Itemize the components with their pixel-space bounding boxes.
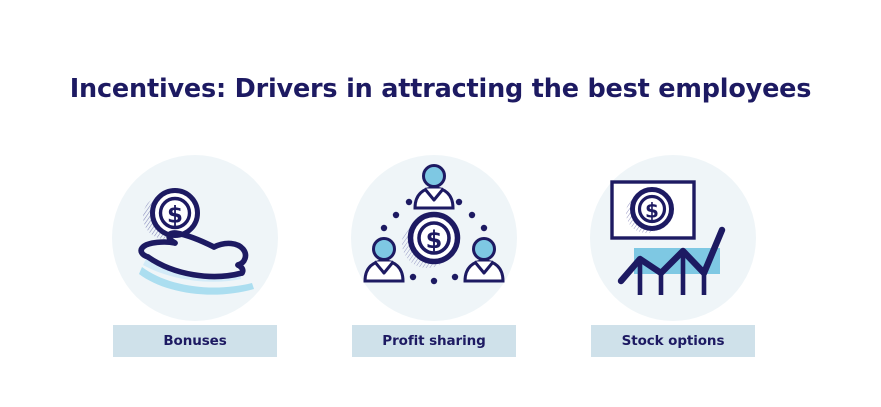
incentive-card-stock-options[interactable]: $ Stock options — [590, 155, 756, 321]
icon-circle-background: $ — [112, 155, 278, 321]
card-label-text: Bonuses — [163, 333, 226, 349]
slide-canvas: Incentives: Drivers in attracting the be… — [0, 0, 881, 407]
icon-circle-background: $ — [351, 155, 517, 321]
hand-holding-coin-icon: $ — [112, 155, 278, 321]
card-label-text: Profit sharing — [382, 333, 485, 349]
svg-text:$: $ — [167, 203, 183, 229]
incentive-card-profit-sharing[interactable]: $ Profit sharing — [351, 155, 517, 321]
banknote-growth-chart-icon: $ — [590, 155, 756, 321]
icon-circle-background: $ — [590, 155, 756, 321]
people-sharing-coin-icon: $ — [351, 155, 517, 321]
incentive-card-row: $ Bonuses — [0, 155, 881, 360]
card-label-bonuses: Bonuses — [113, 325, 277, 357]
incentive-card-bonuses[interactable]: $ Bonuses — [112, 155, 278, 321]
svg-text:$: $ — [426, 226, 443, 254]
page-title: Incentives: Drivers in attracting the be… — [0, 74, 881, 104]
card-label-profit-sharing: Profit sharing — [352, 325, 516, 357]
card-label-text: Stock options — [622, 333, 725, 349]
card-label-stock-options: Stock options — [591, 325, 755, 357]
svg-text:$: $ — [645, 199, 659, 223]
